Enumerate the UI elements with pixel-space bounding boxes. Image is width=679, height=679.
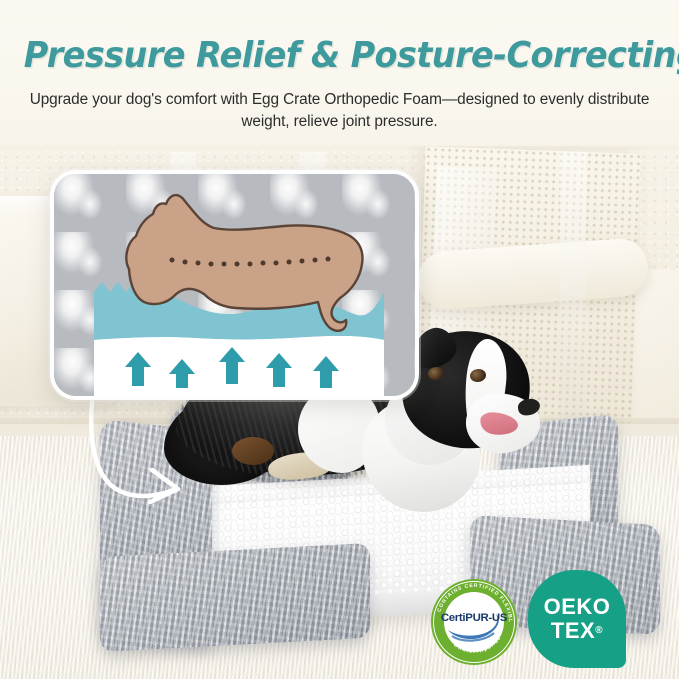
bolster-fur-texture — [100, 543, 370, 652]
page-title: Pressure Relief & Posture-Correcting — [24, 36, 655, 76]
oeko-tex-badge: OEKO TEX® — [528, 570, 626, 668]
svg-text:CertiPUR-US: CertiPUR-US — [441, 612, 508, 624]
dog-tan-marking — [232, 437, 274, 465]
pressure-relief-diagram-panel — [50, 170, 419, 400]
oeko-tex-label: OEKO TEX® — [528, 570, 626, 668]
oeko-line2: TEX — [551, 619, 595, 643]
page-subtitle: Upgrade your dog's comfort with Egg Crat… — [26, 89, 653, 133]
header-band: Pressure Relief & Posture-Correcting Upg… — [0, 0, 679, 146]
oeko-line1: OEKO — [544, 595, 611, 619]
bolster-front — [100, 543, 370, 652]
registered-mark-icon: ® — [595, 619, 603, 643]
certipur-us-badge: CONTAINS CERTIFIED FLEXIBLE POLYURETHANE… — [430, 578, 518, 666]
product-infographic: Pressure Relief & Posture-Correcting Upg… — [0, 0, 679, 679]
support-layers — [54, 174, 419, 400]
